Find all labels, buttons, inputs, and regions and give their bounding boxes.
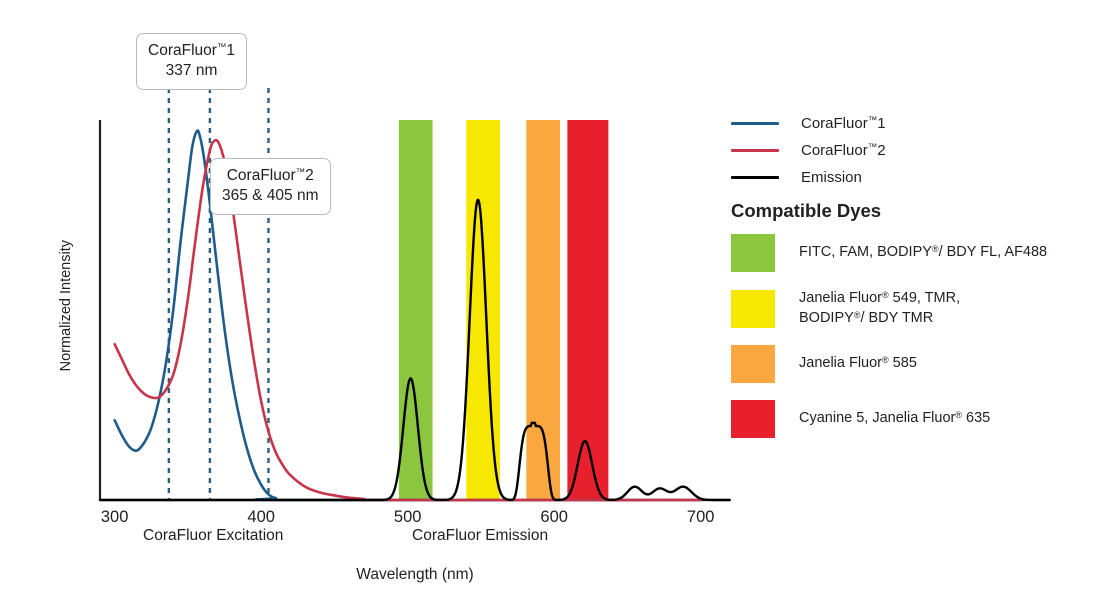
compatible-dyes-heading: Compatible Dyes [731, 200, 881, 222]
legend-line-swatch [731, 176, 779, 179]
x-axis-label: Wavelength (nm) [0, 566, 830, 584]
legend-item-label: CoraFluor™2 [801, 142, 886, 159]
legend-item-corafluor1: CoraFluor™1 [731, 110, 1106, 137]
dye-color-swatch [731, 290, 775, 328]
emission-region-label: CoraFluor Emission [412, 527, 548, 545]
legend-item-emission: Emission [731, 164, 1106, 191]
callout-2-line2: 365 & 405 nm [222, 186, 319, 206]
dye-label-line2: BODIPY®/ BDY TMR [799, 310, 933, 326]
dye-label: Janelia Fluor® 549, TMR, BODIPY®/ BDY TM… [799, 289, 960, 328]
x-tick-label: 700 [687, 508, 715, 526]
dye-label-line1: Cyanine 5, Janelia Fluor® 635 [799, 410, 990, 426]
series-legend: CoraFluor™1 CoraFluor™2 Emission [731, 110, 1106, 191]
x-tick-label: 400 [247, 508, 275, 526]
dye-item: Janelia Fluor® 585 [731, 345, 1106, 383]
legend-item-corafluor2: CoraFluor™2 [731, 137, 1106, 164]
dye-label: Cyanine 5, Janelia Fluor® 635 [799, 409, 990, 429]
callout-2-line1: CoraFluor™2 [227, 167, 314, 184]
emission-band [526, 120, 560, 500]
dye-color-swatch [731, 400, 775, 438]
emission-band [466, 120, 500, 500]
callout-corafluor2: CoraFluor™2 365 & 405 nm [210, 158, 331, 215]
legend-item-label: CoraFluor™1 [801, 115, 886, 132]
compatible-dyes-list: FITC, FAM, BODIPY®/ BDY FL, AF488 Janeli… [731, 234, 1106, 455]
dye-color-swatch [731, 234, 775, 272]
excitation-region-label: CoraFluor Excitation [143, 527, 283, 545]
dye-label-line1: Janelia Fluor® 549, TMR, [799, 290, 960, 306]
dye-label-line1: FITC, FAM, BODIPY®/ BDY FL, AF488 [799, 244, 1047, 260]
legend-item-label: Emission [801, 169, 862, 186]
dye-label-line1: Janelia Fluor® 585 [799, 355, 917, 371]
dye-item: Cyanine 5, Janelia Fluor® 635 [731, 400, 1106, 438]
callout-1-line1: CoraFluor™1 [148, 42, 235, 59]
legend-line-swatch [731, 149, 779, 152]
dye-color-swatch [731, 345, 775, 383]
dye-item: FITC, FAM, BODIPY®/ BDY FL, AF488 [731, 234, 1106, 272]
x-tick-label: 500 [394, 508, 422, 526]
x-tick-label: 600 [540, 508, 568, 526]
dye-label: FITC, FAM, BODIPY®/ BDY FL, AF488 [799, 243, 1047, 263]
dye-item: Janelia Fluor® 549, TMR, BODIPY®/ BDY TM… [731, 289, 1106, 328]
legend-line-swatch [731, 122, 779, 125]
callout-1-line2: 337 nm [148, 61, 235, 81]
dye-label: Janelia Fluor® 585 [799, 354, 917, 374]
x-tick-label: 300 [101, 508, 129, 526]
callout-corafluor1: CoraFluor™1 337 nm [136, 33, 247, 90]
y-axis-label: Normalized Intensity [58, 240, 74, 371]
emission-band [399, 120, 433, 500]
fluorescence-spectra-figure: 300400500600700 CoraFluor™1 337 nm CoraF… [0, 0, 1110, 612]
